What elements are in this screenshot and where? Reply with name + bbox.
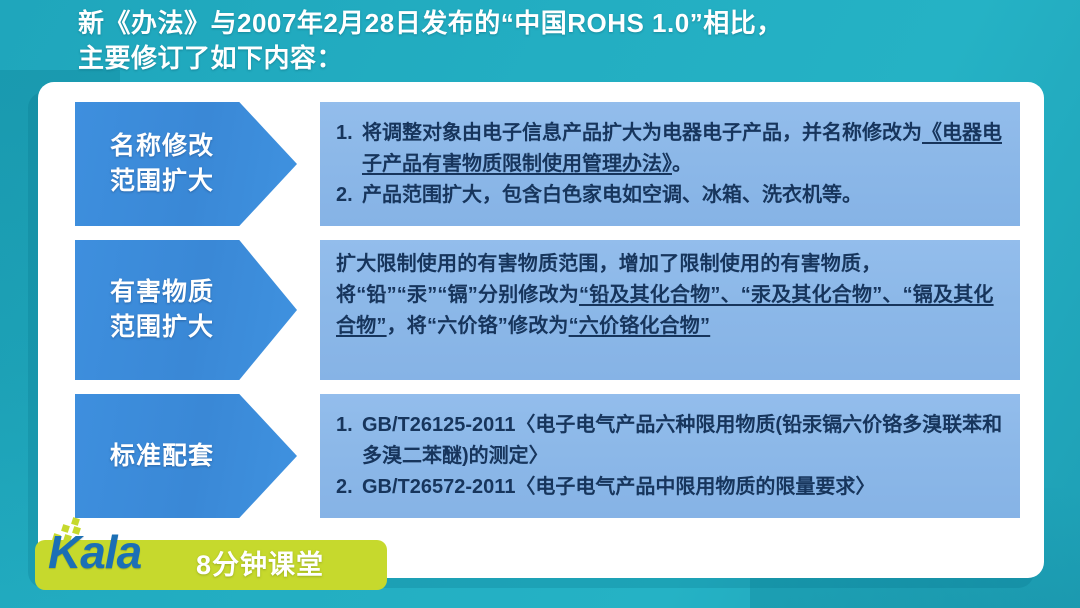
arrow-label-hazardous-substances[interactable]: 有害物质 范围扩大	[75, 240, 297, 380]
content-panel-hazardous-substances: 扩大限制使用的有害物质范围，增加了限制使用的有害物质，将“铅”“汞”“镉”分别修…	[320, 240, 1020, 380]
list-item-text: 产品范围扩大，包含白色家电如空调、冰箱、洗衣机等。	[362, 180, 1006, 211]
arrow-label-text: 有害物质 范围扩大	[110, 275, 214, 345]
rows-container: 名称修改 范围扩大 1. 将调整对象由电子信息产品扩大为电器电子产品，并名称修改…	[38, 82, 1044, 578]
list-item: 1. GB/T26125-2011〈电子电气产品六种限用物质(铅汞镉六价铬多溴联…	[336, 410, 1006, 472]
list-item-prefix: 将调整对象由电子信息产品扩大为电器电子产品，并名称修改为	[362, 122, 922, 144]
list-item-number: 1.	[336, 118, 362, 149]
paragraph-part-4-underlined: “六价铬化合物”	[569, 315, 711, 337]
arrow-label-text: 标准配套	[110, 439, 214, 474]
list-item: 1. 将调整对象由电子信息产品扩大为电器电子产品，并名称修改为《电器电子产品有害…	[336, 118, 1006, 180]
content-row-name-change: 名称修改 范围扩大 1. 将调整对象由电子信息产品扩大为电器电子产品，并名称修改…	[38, 102, 1044, 226]
paragraph-text: 扩大限制使用的有害物质范围，增加了限制使用的有害物质，将“铅”“汞”“镉”分别修…	[336, 249, 1006, 342]
content-panel-standards: 1. GB/T26125-2011〈电子电气产品六种限用物质(铅汞镉六价铬多溴联…	[320, 394, 1020, 518]
arrow-label-name-change[interactable]: 名称修改 范围扩大	[75, 102, 297, 226]
paragraph-part-3: ，将“六价铬”修改为	[387, 315, 569, 337]
slide-heading: 新《办法》与2007年2月28日发布的“中国ROHS 1.0”相比， 主要修订了…	[78, 6, 1038, 76]
footer-tagline: 8分钟课堂	[196, 544, 324, 586]
list-item-number: 2.	[336, 180, 362, 211]
list-item: 2. GB/T26572-2011〈电子电气产品中限用物质的限量要求〉	[336, 472, 1006, 503]
slide-canvas: 新《办法》与2007年2月28日发布的“中国ROHS 1.0”相比， 主要修订了…	[0, 0, 1080, 608]
kala-logo-text: Kala	[48, 524, 141, 580]
list-item-text: GB/T26125-2011〈电子电气产品六种限用物质(铅汞镉六价铬多溴联苯和多…	[362, 410, 1006, 472]
list-item-number: 2.	[336, 472, 362, 503]
arrow-label-standards[interactable]: 标准配套	[75, 394, 297, 518]
list-item-suffix: 。	[672, 153, 692, 175]
list-item-text: GB/T26572-2011〈电子电气产品中限用物质的限量要求〉	[362, 472, 1006, 503]
arrow-label-text: 名称修改 范围扩大	[110, 129, 214, 199]
list-item: 2. 产品范围扩大，包含白色家电如空调、冰箱、洗衣机等。	[336, 180, 1006, 211]
kala-logo: Kala	[48, 516, 208, 586]
content-row-hazardous-substances: 有害物质 范围扩大 扩大限制使用的有害物质范围，增加了限制使用的有害物质，将“铅…	[38, 240, 1044, 380]
content-card: 名称修改 范围扩大 1. 将调整对象由电子信息产品扩大为电器电子产品，并名称修改…	[38, 82, 1044, 578]
content-row-standards: 标准配套 1. GB/T26125-2011〈电子电气产品六种限用物质(铅汞镉六…	[38, 394, 1044, 518]
content-panel-name-change: 1. 将调整对象由电子信息产品扩大为电器电子产品，并名称修改为《电器电子产品有害…	[320, 102, 1020, 226]
list-item-number: 1.	[336, 410, 362, 441]
list-item-text: 将调整对象由电子信息产品扩大为电器电子产品，并名称修改为《电器电子产品有害物质限…	[362, 118, 1006, 180]
